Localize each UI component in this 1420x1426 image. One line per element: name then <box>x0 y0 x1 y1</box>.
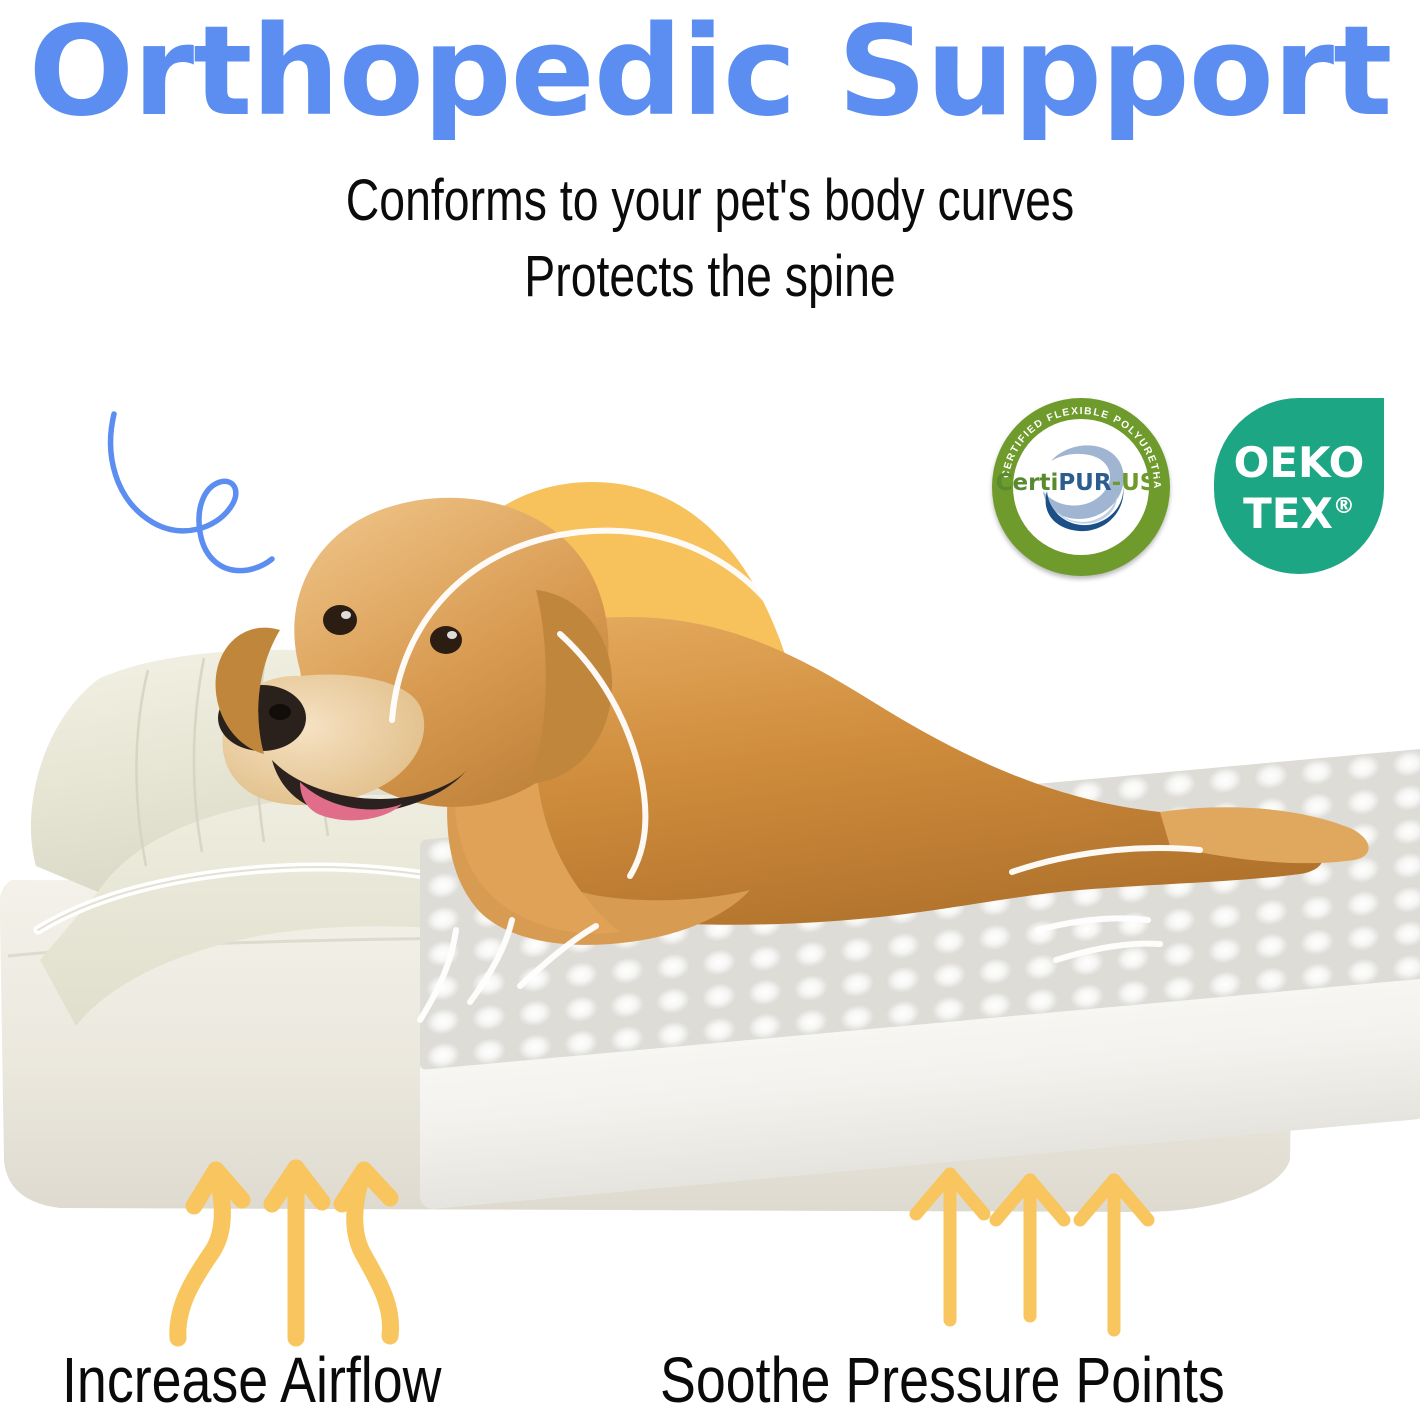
certipur-wordmark-pur: PUR <box>1058 470 1111 496</box>
page-title: Orthopedic Support <box>0 6 1420 140</box>
airflow-arrows <box>150 1148 450 1348</box>
benefit-captions: Increase Airflow Soothe Pressure Points <box>0 1348 1420 1412</box>
pressure-relief-arrows <box>900 1148 1160 1348</box>
subtitle-line-2: Protects the spine <box>142 248 1278 306</box>
caption-increase-airflow: Increase Airflow <box>62 1348 441 1412</box>
certipur-wordmark: CertiPUR-US® <box>992 472 1170 495</box>
certipur-wordmark-us: -US <box>1112 470 1157 496</box>
certipur-wordmark-certi: Certi <box>996 470 1059 496</box>
caption-soothe-pressure-points: Soothe Pressure Points <box>660 1348 1225 1412</box>
product-infographic: Orthopedic Support Conforms to your pet'… <box>0 0 1420 1426</box>
certipur-registered-mark: ® <box>1156 473 1166 484</box>
subtitle-line-1: Conforms to your pet's body curves <box>142 172 1278 230</box>
